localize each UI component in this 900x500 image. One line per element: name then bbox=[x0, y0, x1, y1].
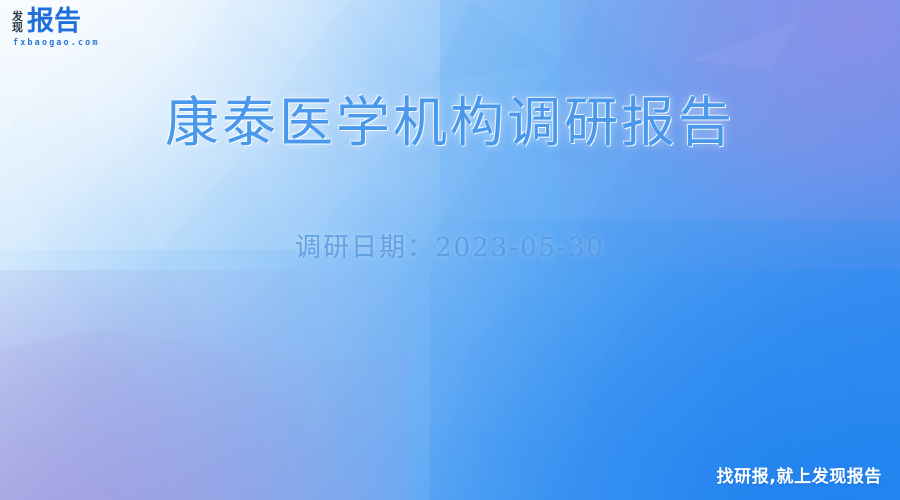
logo-char-xian: 现 bbox=[12, 22, 23, 33]
page-title: 康泰医学机构调研报告 bbox=[0, 92, 900, 155]
brand-slogan-watermark: 找研报,就上发现报告 bbox=[717, 462, 882, 487]
logo-main-text: 报告 bbox=[27, 8, 81, 35]
background-purple-bottom-left bbox=[0, 270, 410, 500]
logo-stacked-characters: 发 现 bbox=[12, 10, 23, 33]
cover-slide: 发 现 报告 fxbaogao.com 康泰医学机构调研报告 调研日期：2023… bbox=[0, 0, 900, 500]
cover-text-block: 康泰医学机构调研报告 调研日期：2023-05-30 bbox=[0, 92, 900, 264]
survey-date-subtitle: 调研日期：2023-05-30 bbox=[0, 155, 900, 264]
logo-domain-text: fxbaogao.com bbox=[13, 38, 100, 48]
logo-wordmark-row: 发 现 报告 bbox=[12, 8, 81, 35]
brand-logo[interactable]: 发 现 报告 fxbaogao.com bbox=[12, 8, 100, 48]
